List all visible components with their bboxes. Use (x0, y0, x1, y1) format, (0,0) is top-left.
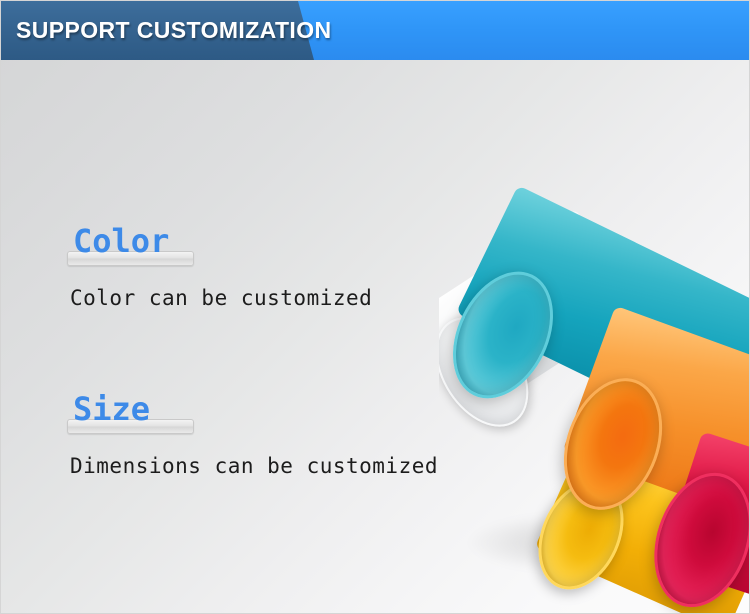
section-heading-color: Color (67, 223, 169, 259)
support-customization-banner: SUPPORT CUSTOMIZATION Color Color can be… (0, 0, 750, 614)
section-body-color: Color can be customized (70, 286, 372, 310)
section-size: Size Dimensions can be customized (67, 391, 150, 427)
section-heading-size: Size (67, 391, 150, 427)
page-title: SUPPORT CUSTOMIZATION (16, 1, 332, 60)
section-body-size: Dimensions can be customized (70, 454, 438, 478)
banner-header: SUPPORT CUSTOMIZATION (1, 1, 750, 60)
pvc-pipes-photo (439, 183, 749, 613)
section-color: Color Color can be customized (67, 223, 169, 259)
